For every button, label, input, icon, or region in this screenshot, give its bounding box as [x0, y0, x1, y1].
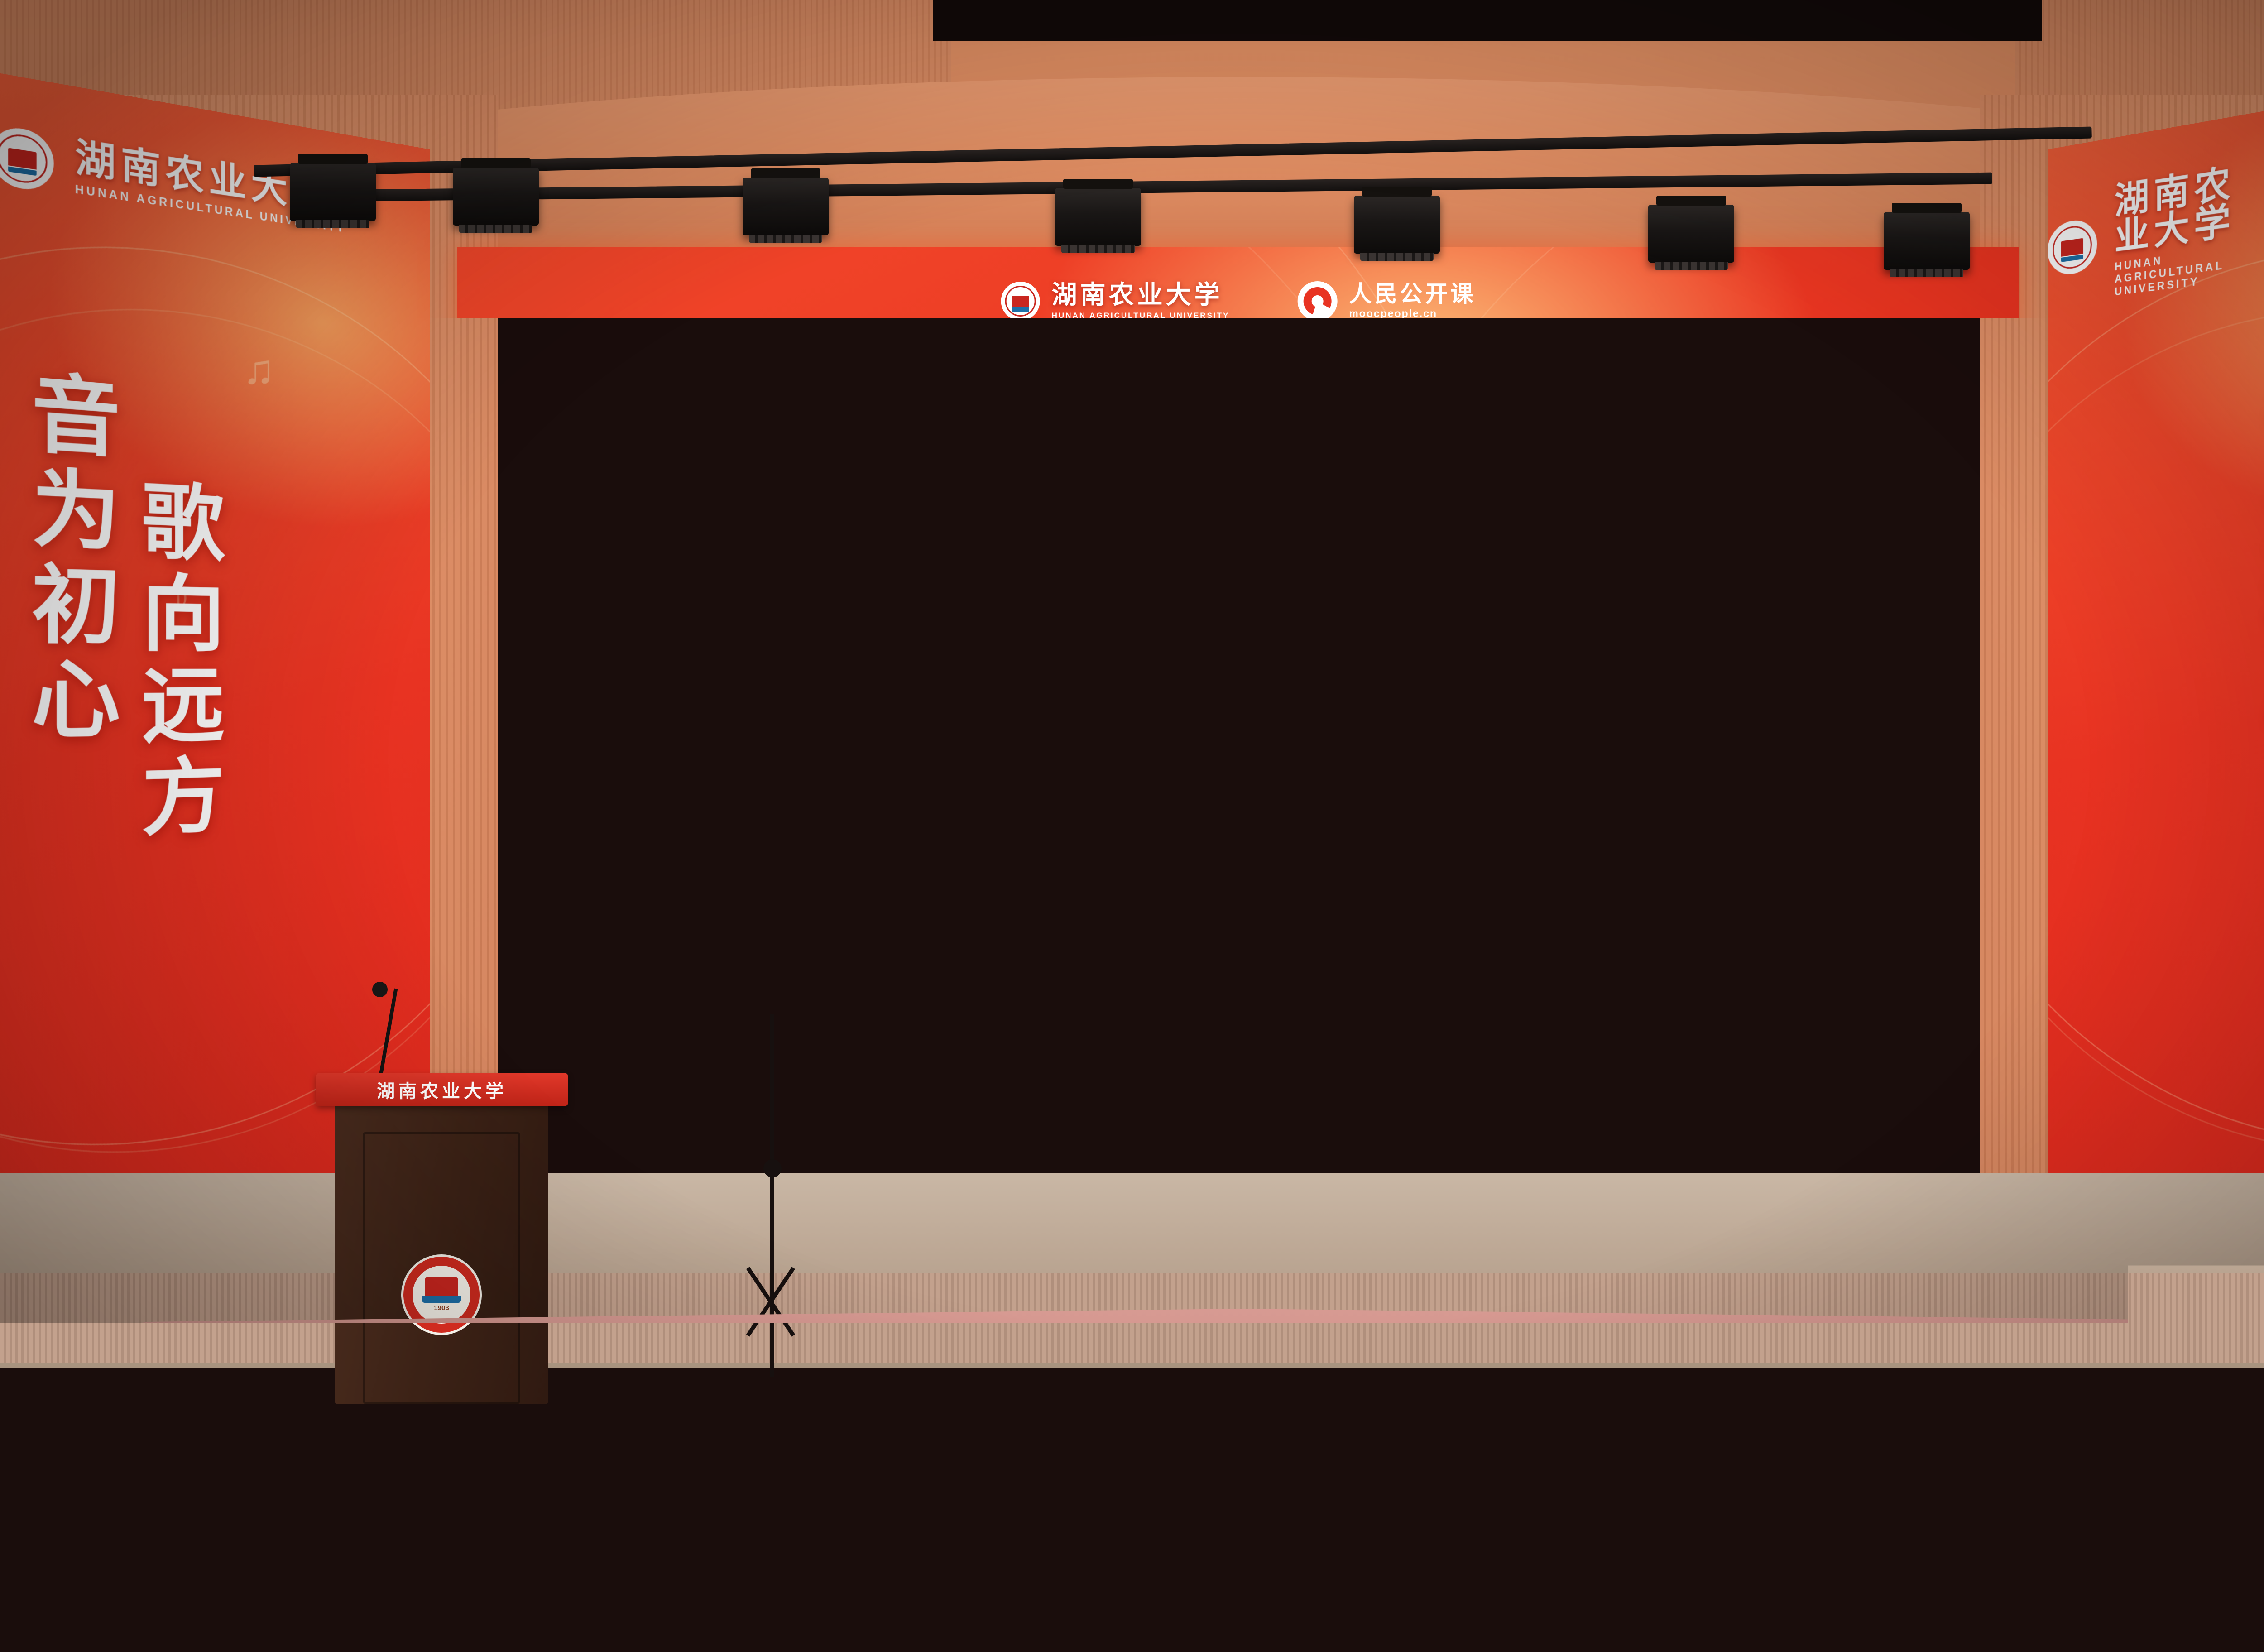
org-list-item: 湖南电气职业技术学院马克思主义学院	[1652, 1019, 1942, 1036]
org-list-item: 湖南交通职业技术学院马克思主义学院	[1652, 1003, 1942, 1019]
cohosts-heading: 联合主办单位:	[782, 718, 1072, 738]
cohosts-list-2: 四川大学马克思主义学院南京农业大学马克思主义学院太原理工大学马克思主义学院华南农…	[1072, 735, 1362, 1086]
stage-light	[1648, 205, 1734, 263]
music-note-icon: ♫	[1146, 360, 1170, 396]
audience-head	[614, 1427, 677, 1523]
org-list-item: 安庆师范大学马克思主义学院	[1652, 819, 1942, 836]
podium-nameplate: 湖南农业大学	[316, 1073, 568, 1106]
org-list-item: 中南大学马克思主义学院	[782, 741, 1072, 758]
logo-university: 湖南农业大学 HUNAN AGRICULTURAL UNIVERSITY	[1001, 282, 1230, 321]
org-list-item: 青海大学马克思主义学院	[1942, 752, 2019, 768]
audience-head	[1471, 1546, 1545, 1652]
org-list-item: 甘肃农业大学马克思主义学院	[1072, 902, 1362, 919]
audience-head	[225, 1379, 284, 1467]
org-list-item: 上海健康医学院马克思主义学院	[1652, 952, 1942, 969]
led-panel-right: 湖南农业大学 HUNAN AGRICULTURAL UNIVERSITY 人民公…	[2048, 65, 2264, 1267]
podium-mic-icon	[372, 982, 388, 997]
audience-head	[1794, 1427, 1857, 1523]
stage-light	[1354, 196, 1440, 254]
org-list-item: 海南热带海洋学院马克思主义学院	[1652, 969, 1942, 986]
org-list-item: 皖西卫生职业学院马克思主义学院	[1362, 986, 1652, 1003]
org-list-item: 华南农业大学马克思主义学院	[1072, 785, 1362, 802]
event-headline: 音为初心 歌向远方	[457, 482, 2019, 560]
audience-head	[378, 1427, 441, 1523]
org-list-item: 中国矿业大学（北京）马克思主义学院	[1652, 735, 1942, 752]
org-list-item: 南华大学马克思主义学院	[1652, 919, 1942, 936]
org-list-item: 重庆邮电大学马克思主义学院	[1072, 885, 1362, 902]
audience-head	[451, 1379, 509, 1467]
event-subheadline: 第一期“红农文旅”音乐思政课暨第五期“思政+三农+艺术”原创音乐作品展播	[457, 582, 2019, 616]
org-list-item: 大连海洋大学马克思主义学院	[1942, 869, 2019, 885]
audience-head	[0, 1379, 59, 1467]
org-list-item: 信阳农林学院马克思主义学院	[1362, 969, 1652, 986]
org-list-item: 上海师范大学马克思主义学院	[782, 792, 1072, 808]
org-list-item: 河南农业大学马克思主义学院	[1362, 902, 1652, 919]
stage-light	[743, 178, 829, 235]
org-list-item: 杭州电子科技大学马克思主义学院	[1942, 852, 2019, 869]
moocpeople-logo-icon	[1297, 281, 1337, 321]
org-list-item: 湖北工业大学马克思主义学院	[782, 858, 1072, 875]
cohosts-list-3: 西北农林科技大学马克思主义学院华中农业大学马克思主义学院成都理工大学马克思主义学…	[1362, 735, 1652, 1069]
org-list-item: 仲恺农业工程学院马克思主义学院	[1362, 952, 1652, 969]
org-list-item: 塔里木大学马克思主义学院	[1362, 869, 1652, 885]
podium-nameplate-text: 湖南农业大学	[377, 1076, 507, 1103]
org-list-item: 重庆工商大学马克思主义学院	[1362, 885, 1652, 902]
org-list-item: 江苏大学马克思主义学院	[1942, 785, 2019, 802]
org-list-item: 闽南师范大学马克思主义学院	[1072, 919, 1362, 936]
audience-head	[1322, 1427, 1385, 1523]
org-list-item: 天水师范学院马克思主义学院	[1072, 969, 1362, 986]
org-list-item: 辽宁中医药大学马克思主义学院	[1942, 902, 2019, 919]
main-led-screen: ♫ ♪ ♬ 湖南农业大学 HUNAN AGRICULTURAL UNIVERSI…	[457, 247, 2019, 1134]
org-list-item: 武汉轻工大学马克思主义学院	[1942, 835, 2019, 852]
initiators-heading: 发起单位:	[493, 718, 782, 738]
org-list-item: 湖南工商大学马克思主义学院	[782, 942, 1072, 959]
org-list-item: 新疆农业大学马克思主义学院	[782, 908, 1072, 925]
org-list-item: 淮南师范学院马克思主义学院	[782, 975, 1072, 992]
org-list-item: 湘南学院马克思主义学院	[1072, 1003, 1362, 1019]
audience-head	[850, 1427, 913, 1523]
cohosts-list-5: 华东理工大学马克思主义学院青海大学马克思主义学院江西师范大学马克思主义学院江苏大…	[1942, 735, 2019, 1052]
ceiling-recess	[933, 0, 2042, 41]
org-list-item: 长江大学马克思主义学院	[1362, 835, 1652, 852]
org-list-item: 湖南省企（事）业文联	[493, 858, 782, 875]
audience-head	[242, 1484, 311, 1587]
initiators-list: 湖南省“大思政课”建设创新中心(湖南农业大学)南开大学马克思主义学院浙江理工大学…	[493, 741, 782, 892]
side-slogan-line2: 歌向远方	[129, 476, 222, 848]
org-list-item: 郴州职业技术学院马克思主义学院	[1072, 1052, 1362, 1069]
org-list-item: 湖南教育电视台	[493, 841, 782, 858]
org-list-item: 湖南省“大思政课”建设创新中心(湖南农业大学)	[493, 741, 782, 758]
decorative-swirl	[2048, 182, 2264, 1218]
org-list-item: 重庆交通大学马克思主义学院	[782, 892, 1072, 908]
audience-head	[688, 1546, 763, 1652]
org-list-item: 陕西科技大学马克思主义学院	[782, 875, 1072, 892]
org-list-item: 南京邮电大学马克思主义学院	[782, 825, 1072, 842]
org-column-cohosts-5: 华东理工大学马克思主义学院青海大学马克思主义学院江西师范大学马克思主义学院江苏大…	[1942, 718, 2019, 1125]
org-list-item: 江南大学马克思主义学院	[1652, 752, 1942, 768]
org-list-item: 中共永州市零陵区委宣传部	[493, 875, 782, 892]
stage-light	[453, 168, 539, 226]
org-list-item: 吉首大学马克思主义学院	[1942, 919, 2019, 936]
org-list-item: 湖南环保职业技术学院马克思主义学院	[1652, 1036, 1942, 1052]
org-list-item: 南开大学马克思主义学院	[493, 758, 782, 775]
org-list-item: 安徽警官职业学院马克思主义学院	[1072, 1019, 1362, 1036]
org-list-item: 江西师范大学马克思主义学院	[1942, 768, 2019, 785]
org-list-item: 广东财经大学马克思主义学院	[1942, 802, 2019, 819]
org-column-cohosts-1: 联合主办单位: 中南大学马克思主义学院上海大学马克思主义学院宁波大学马克思主义学…	[782, 718, 1072, 1125]
auditorium-scene: ♫ ♪ 湖南农业大学 HUNAN AGRICULTURAL UNIVERSITY…	[0, 0, 2264, 1652]
org-list-item: 湖南城市学院马克思主义学院	[1942, 969, 2019, 986]
stage-light	[290, 163, 376, 221]
org-list-item: 辽宁机电职业技术学院马克思主义学院	[1362, 1019, 1652, 1036]
org-list-item: 西北师范大学马克思主义学院	[1652, 768, 1942, 785]
side-slogan-line1: 音为初心	[18, 366, 118, 750]
org-list-item: 华中农业大学马克思主义学院	[1362, 752, 1652, 768]
org-list-item: 温州大学马克思主义学院	[1652, 852, 1942, 869]
org-list-item: 中南民族大学马克思主义学院	[782, 841, 1072, 858]
org-list-item: 湖南铁道职业技术学院马克思主义学院	[1072, 1036, 1362, 1052]
org-list-item: 湖南省委党校马克思主义学院	[1652, 986, 1942, 1003]
presenter-hair	[441, 919, 506, 955]
org-list-item: 湖南民族职业学院马克思主义学院	[1362, 1036, 1652, 1052]
audience-head	[1992, 1546, 2067, 1652]
stage-light	[1884, 212, 1970, 270]
audience-head	[142, 1427, 205, 1523]
org-list-item: 云南农业大学马克思主义学院	[1652, 885, 1942, 902]
org-list-item: 上海体育大学马克思主义学院	[1362, 802, 1652, 819]
org-list-item: 安徽工业大学马克思主义学院	[1072, 802, 1362, 819]
org-list-item: 三峡大学马克思主义学院	[1652, 835, 1942, 852]
audience-head	[1732, 1546, 1806, 1652]
org-list-item: 上海大学马克思主义学院	[782, 758, 1072, 775]
logo-platform: 人民公开课 moocpeople.cn	[1297, 281, 1476, 321]
org-list-item: 大连民族大学马克思主义学院	[1652, 869, 1942, 885]
org-list-item: 华东理工大学马克思主义学院	[1942, 735, 2019, 752]
org-list-item: 西北农林科技大学马克思主义学院	[1362, 735, 1652, 752]
university-name-cn: 湖南农业大学	[2115, 161, 2258, 256]
org-list-item: 桂林旅游学院马克思主义学院	[493, 792, 782, 808]
org-list-item: 喀什大学马克思主义学院	[1072, 936, 1362, 952]
university-crest-icon	[2048, 217, 2097, 277]
audience-head	[1086, 1427, 1149, 1523]
water-bottle-cap	[523, 1036, 537, 1044]
cohosts-list-4: 中国矿业大学（北京）马克思主义学院江南大学马克思主义学院西北师范大学马克思主义学…	[1652, 735, 1942, 1052]
audience-head	[489, 1484, 558, 1587]
side-branding-right: 湖南农业大学 HUNAN AGRICULTURAL UNIVERSITY 人民公…	[2048, 124, 2264, 307]
org-list-item: 河北工程技术学院马克思主义学院	[782, 992, 1072, 1009]
org-list-item: 南京农业大学马克思主义学院	[1072, 752, 1362, 768]
event-time: 会议时间：2025年4月14日（星期一）10:00	[953, 640, 1525, 693]
audience-head	[427, 1546, 502, 1652]
org-list-item: 湖南科技职业学院马克思主义学院	[782, 1042, 1072, 1059]
org-column-cohosts-2: 四川大学马克思主义学院南京农业大学马克思主义学院太原理工大学马克思主义学院华南农…	[1072, 718, 1362, 1125]
university-name-en: HUNAN AGRICULTURAL UNIVERSITY	[1052, 311, 1230, 320]
org-list-item: 福建信息职业技术学院马克思主义学院	[782, 1025, 1072, 1042]
org-list-item: 绍兴文理学院马克思主义学院	[1072, 952, 1362, 969]
cohosts-list-1: 中南大学马克思主义学院上海大学马克思主义学院宁波大学马克思主义学院上海师范大学马…	[782, 741, 1072, 1076]
org-list-item: 湖南农业大学马克思主义学院	[493, 808, 782, 825]
audience-head	[676, 1379, 734, 1467]
mic-stand-knob	[763, 1159, 782, 1177]
decorative-swirl	[2048, 257, 2264, 1222]
org-list-item: 内蒙古师范大学马克思主义学院	[1072, 819, 1362, 836]
audience-head	[167, 1546, 241, 1652]
org-list-item: 厦门理工学院马克思主义学院	[1942, 952, 2019, 969]
org-list-item: 长沙卫生职业学院马克思主义学院	[1362, 1052, 1652, 1069]
org-list-item: 湖南科技大学马克思主义学院	[1942, 1003, 2019, 1019]
cohosts-footnote: （联合主办单位排名不分先后）	[1835, 1105, 1993, 1121]
org-list-item: 蚌埠工商学院马克思主义学院	[1072, 986, 1362, 1003]
audience-head	[949, 1546, 1023, 1652]
org-list-item: 深圳大学马克思主义学院	[1362, 785, 1652, 802]
stage-light	[1055, 188, 1141, 246]
org-list-item: 辽宁石油化工大学马克思主义学院	[1652, 902, 1942, 919]
org-list-item: 中国民航飞行学院马克思主义学院	[1072, 852, 1362, 869]
org-list-item: 武汉科技大学马克思主义学院	[1072, 835, 1362, 852]
org-list-item: 成都理工大学马克思主义学院	[1362, 768, 1652, 785]
org-list-item: 扬州大学马克思主义学院	[782, 808, 1072, 825]
org-list-item: 湖南机电职业技术学院马克思主义学院	[1942, 1019, 2019, 1036]
org-list-item: 淮北师范大学马克思主义学院	[1942, 819, 2019, 836]
music-note-icon: ♬	[1761, 437, 1788, 467]
org-list-item: 福建医科大学马克思主义学院	[782, 925, 1072, 942]
org-list-item: 长沙师范学院马克思主义学院	[1362, 1003, 1652, 1019]
audience-head	[1558, 1427, 1621, 1523]
side-slogan-line1: 音为初心	[2255, 376, 2264, 748]
platform-name-cn: 人民公开课	[1349, 283, 1476, 305]
org-list-item: 湖南开放大学马克思主义学院	[493, 825, 782, 842]
org-list-item: 云南艺术学院马克思主义学院	[1942, 936, 2019, 952]
org-list-item: 上海政法学院马克思主义学院	[1362, 936, 1652, 952]
seal-year: 1903	[434, 1304, 449, 1312]
audience-head	[1210, 1546, 1284, 1652]
org-list-item: 湖南工艺美术职业学院马克思主义学院	[1942, 1036, 2019, 1052]
university-crest-icon	[1001, 282, 1040, 321]
org-list-item: 长沙学院马克思主义学院	[782, 1009, 1072, 1026]
music-note-icon: ♪	[1580, 383, 1595, 416]
org-list-item: 广东外语外贸大学马克思主义学院	[1652, 785, 1942, 802]
org-list-item: 杭州师范大学马克思主义学院	[1362, 819, 1652, 836]
org-column-cohosts-3: 西北农林科技大学马克思主义学院华中农业大学马克思主义学院成都理工大学马克思主义学…	[1362, 718, 1652, 1125]
org-list-item: 广西师范大学马克思主义学院	[1362, 919, 1652, 936]
org-list-item: 湖南理工学院马克思主义学院	[1942, 986, 2019, 1003]
org-list-item: 南方医科大学马克思主义学院	[1652, 802, 1942, 819]
org-list-item: 浙江理工大学红色文化研究院	[493, 775, 782, 792]
org-list-item: 宁波大学马克思主义学院	[782, 775, 1072, 792]
org-list-item: 安徽农业大学马克思主义学院	[1942, 885, 2019, 902]
music-note-icon: ♫	[243, 343, 275, 396]
org-column-cohosts-4: 中国矿业大学（北京）马克思主义学院江南大学马克思主义学院西北师范大学马克思主义学…	[1652, 718, 1942, 1125]
university-name-cn: 湖南农业大学	[1052, 283, 1230, 308]
organizer-lists: 发起单位: 湖南省“大思政课”建设创新中心(湖南农业大学)南开大学马克思主义学院…	[493, 718, 1997, 1125]
org-list-item: 四川大学马克思主义学院	[1072, 735, 1362, 752]
org-list-item: 攀枝花学院马克思主义学院	[1652, 936, 1942, 952]
org-list-item: 浙江音乐学院马克思主义学院	[782, 959, 1072, 975]
screen-branding: 湖南农业大学 HUNAN AGRICULTURAL UNIVERSITY 人民公…	[1001, 281, 1476, 321]
platform-url: moocpeople.cn	[1349, 307, 1476, 320]
org-list-item: 浙江理工大学马克思主义学院	[1362, 852, 1652, 869]
org-list-item: 湖南艺术职业学院马克思主义学院	[782, 1059, 1072, 1076]
org-list-item: 佛山大学马克思主义学院	[1072, 869, 1362, 885]
org-list-item: 太原理工大学马克思主义学院	[1072, 768, 1362, 785]
org-list-item: 湖南艺术职业学院马克思主义学院	[1072, 1069, 1362, 1086]
university-crest-icon	[0, 124, 54, 193]
